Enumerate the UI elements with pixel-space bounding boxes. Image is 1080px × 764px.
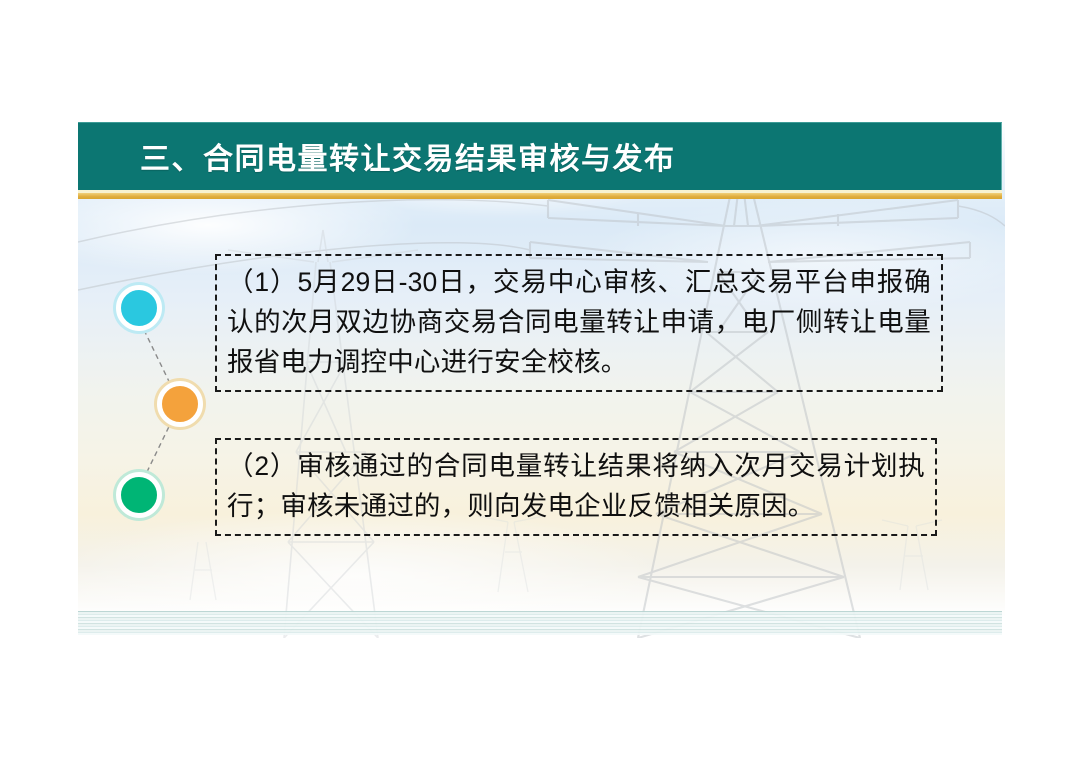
callout-2-text: （2）审核通过的合同电量转让结果将纳入次月交易计划执行；审核未通过的，则向发电企… (227, 446, 925, 526)
callout-1-text: （1）5月29日-30日，交易中心审核、汇总交易平台申报确认的次月双边协商交易合… (227, 262, 931, 382)
footer-stripe-band (78, 611, 1002, 635)
slide-canvas: （1）5月29日-30日，交易中心审核、汇总交易平台申报确认的次月双边协商交易合… (78, 122, 1005, 638)
page-title: 三、合同电量转让交易结果审核与发布 (140, 134, 676, 178)
step-marker-1-circle (116, 285, 162, 331)
title-bar: 三、合同电量转让交易结果审核与发布 (78, 122, 1002, 190)
title-underline-gold (78, 193, 1002, 199)
title-underline-rule (78, 190, 1002, 199)
step-marker-3-circle (116, 472, 162, 518)
step-marker-2-circle (157, 381, 203, 427)
callout-box-1: （1）5月29日-30日，交易中心审核、汇总交易平台申报确认的次月双边协商交易合… (215, 254, 943, 392)
callout-box-2: （2）审核通过的合同电量转让结果将纳入次月交易计划执行；审核未通过的，则向发电企… (215, 438, 937, 536)
